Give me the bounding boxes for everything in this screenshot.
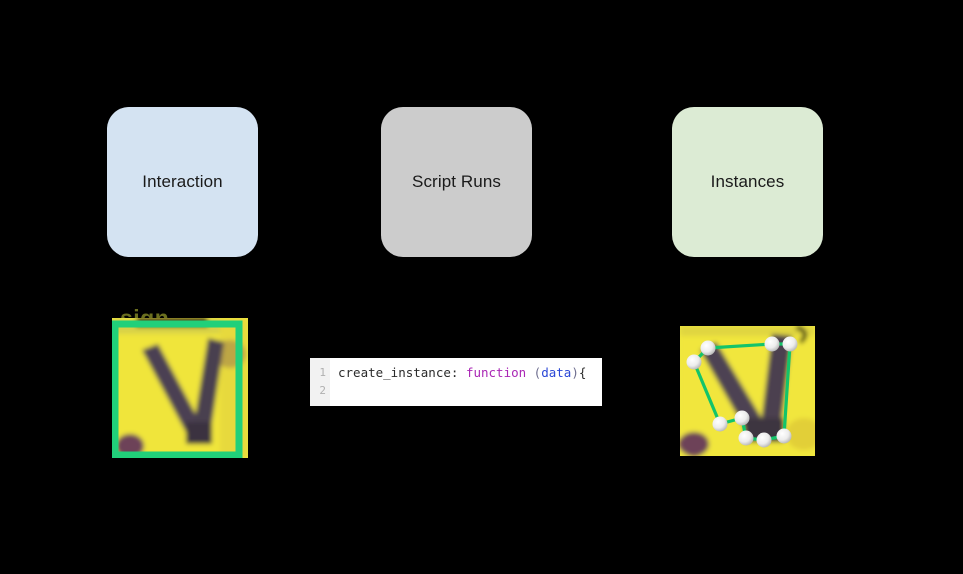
polygon-vertex[interactable] xyxy=(777,429,792,444)
code-token-identifier: data xyxy=(541,365,571,380)
polygon-vertex[interactable] xyxy=(739,431,754,446)
bounding-box-annotation-image[interactable] xyxy=(112,318,248,458)
code-editor-card[interactable]: 1 2 create_instance: function (data){ xyxy=(310,358,602,406)
code-token-plain: create_instance: xyxy=(338,365,466,380)
code-gutter: 1 2 xyxy=(310,358,330,406)
polygon-vertex[interactable] xyxy=(765,337,780,352)
polygon-vertex[interactable] xyxy=(735,411,750,426)
code-line-empty xyxy=(338,382,602,400)
code-line-number: 1 xyxy=(310,364,326,382)
polygon-vertex[interactable] xyxy=(713,417,728,432)
stage-box-interaction-label: Interaction xyxy=(142,172,222,192)
bounding-box-annotation-svg xyxy=(112,318,248,458)
code-line-number: 2 xyxy=(310,382,326,400)
stage-box-instances-label: Instances xyxy=(711,172,785,192)
polygon-annotation-image[interactable] xyxy=(680,326,815,456)
code-token-keyword: function xyxy=(466,365,526,380)
stage-box-script-runs[interactable]: Script Runs xyxy=(381,107,532,257)
polygon-annotation-svg xyxy=(680,326,815,456)
stage-box-interaction[interactable]: Interaction xyxy=(107,107,258,257)
diagram-canvas: Interaction Script Runs Instances sign xyxy=(0,0,963,574)
stage-box-script-runs-label: Script Runs xyxy=(412,172,501,192)
code-body[interactable]: create_instance: function (data){ xyxy=(330,358,602,406)
code-token-punct: ( xyxy=(526,365,541,380)
polygon-vertex[interactable] xyxy=(687,355,702,370)
code-token-plain: { xyxy=(579,365,587,380)
code-token-punct: ) xyxy=(571,365,579,380)
polygon-vertex[interactable] xyxy=(701,341,716,356)
polygon-vertex[interactable] xyxy=(783,337,798,352)
stage-box-instances[interactable]: Instances xyxy=(672,107,823,257)
polygon-vertex[interactable] xyxy=(757,433,772,448)
code-line: create_instance: function (data){ xyxy=(338,364,602,382)
